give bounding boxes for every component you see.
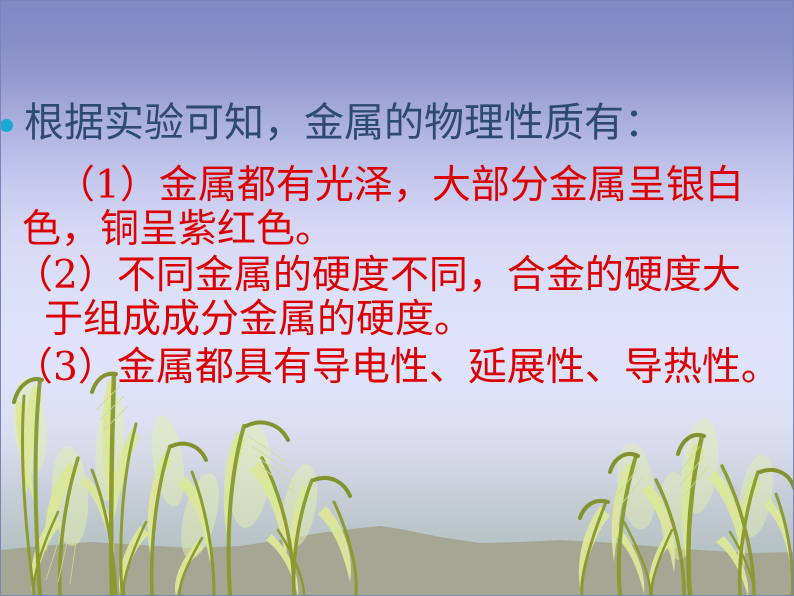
- wheat-cluster-left: [9, 374, 356, 596]
- slide-heading: 根据实验可知，金属的物理性质有：: [24, 100, 664, 146]
- item-1-line-b: 色，铜呈紫红色。: [22, 208, 334, 252]
- item-2-line-b: 于组成成分金属的硬度。: [44, 298, 473, 342]
- presentation-slide: 根据实验可知，金属的物理性质有： （1）金属都有光泽，大部分金属呈银白 色，铜呈…: [0, 0, 794, 596]
- bullet-dot-icon: [0, 119, 13, 132]
- item-1-line-a: （1）金属都有光泽，大部分金属呈银白: [56, 164, 744, 208]
- wheat-cluster-right: [579, 416, 794, 596]
- wheat-plants-decoration: [0, 366, 794, 596]
- item-2-line-a: （2）不同金属的硬度不同，合金的硬度大: [14, 254, 741, 298]
- item-3-line-a: （3）金属都具有导电性、延展性、导热性。: [14, 346, 780, 390]
